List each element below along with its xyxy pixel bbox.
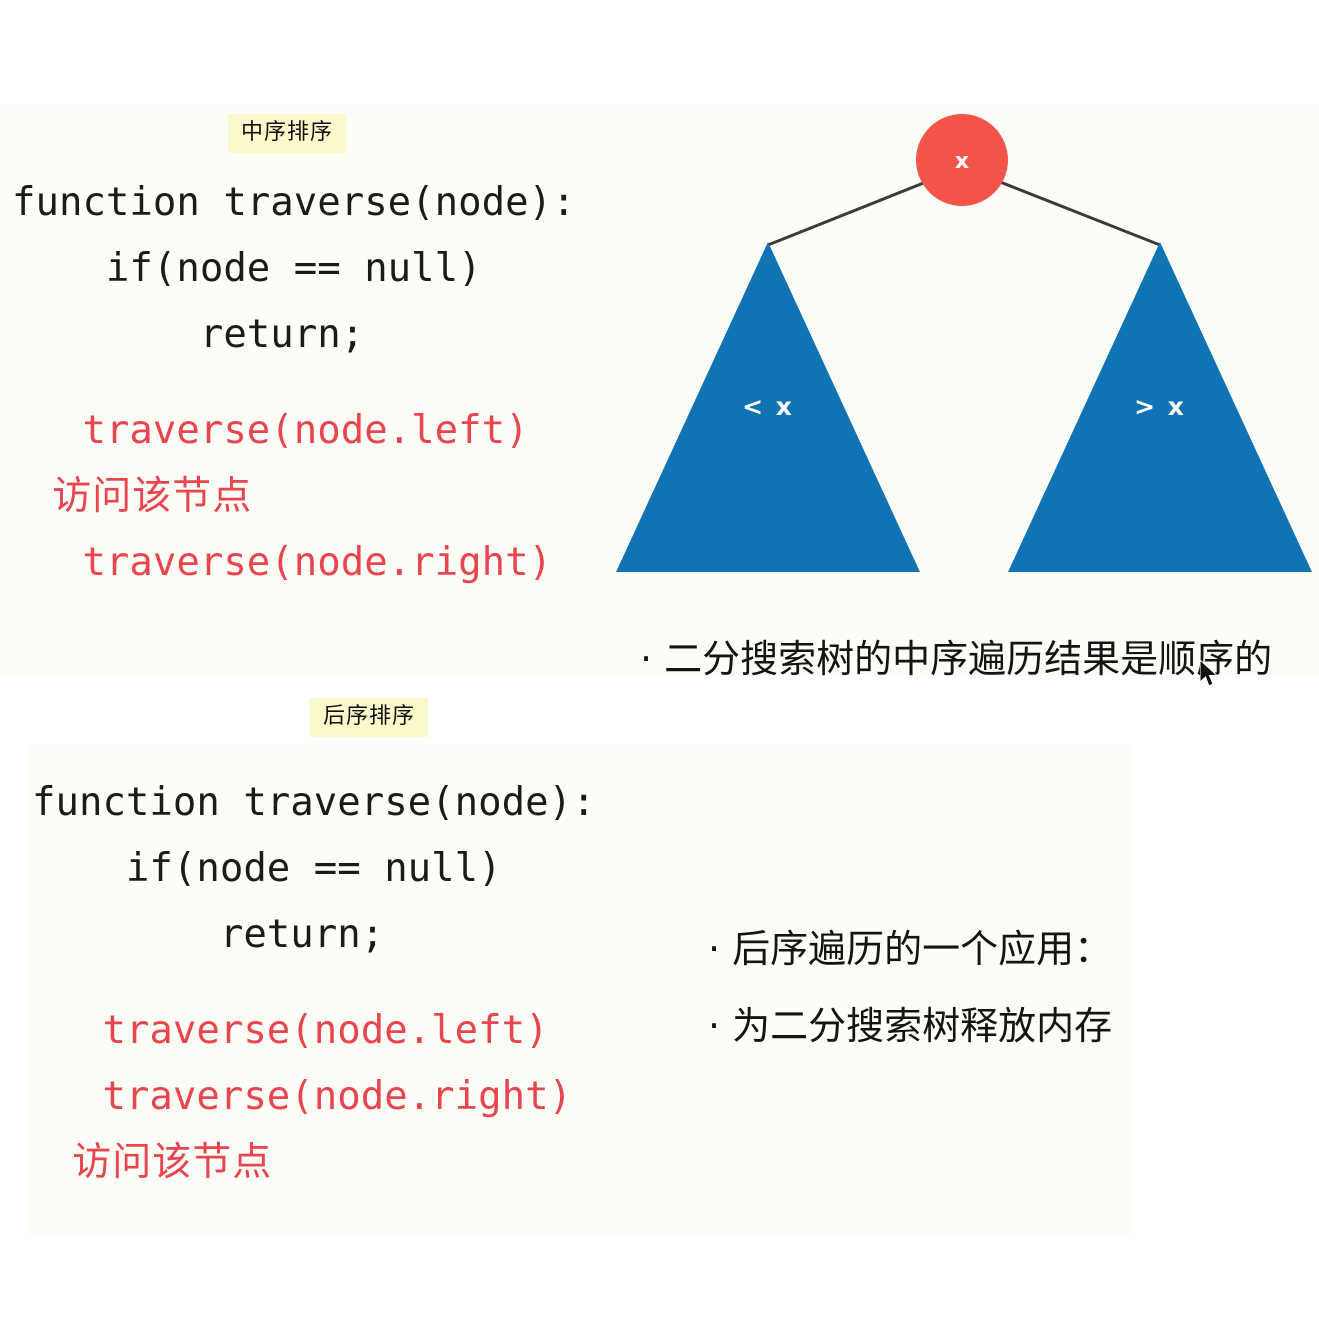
code-line-visit-node: 访问该节点 [32, 1140, 272, 1185]
code-line-visit-node: 访问该节点 [12, 474, 252, 519]
root-node-label: x [955, 149, 969, 174]
postorder-section-title: 后序排序 [310, 698, 428, 737]
inorder-code-block: function traverse(node): if(node == null… [12, 170, 576, 596]
code-line-traverse-right: traverse(node.right) [12, 540, 552, 585]
postorder-code-block: function traverse(node): if(node == null… [32, 770, 596, 1196]
inorder-note: · 二分搜索树的中序遍历结果是顺序的 [640, 628, 1272, 683]
postorder-note-free-memory: · 为二分搜索树释放内存 [708, 995, 1112, 1050]
code-line-traverse-right: traverse(node.right) [32, 1074, 572, 1119]
code-line-return: return; [32, 912, 384, 957]
code-line-if: if(node == null) [12, 246, 482, 291]
code-line-return: return; [12, 312, 364, 357]
edge-root-to-left [768, 178, 936, 245]
code-line-traverse-left: traverse(node.left) [12, 408, 529, 453]
code-line-function: function traverse(node): [12, 180, 576, 225]
code-line-function: function traverse(node): [32, 780, 596, 825]
right-subtree-label: > x [1134, 392, 1186, 421]
edge-root-to-right [990, 178, 1160, 245]
binary-search-tree-diagram: < x > x x [600, 110, 1319, 580]
postorder-note-application: · 后序遍历的一个应用： [708, 918, 1112, 973]
code-blank-line [32, 968, 596, 998]
text-caret-artifact [310, 1183, 317, 1229]
code-blank-line [12, 368, 576, 398]
code-line-traverse-left: traverse(node.left) [32, 1008, 549, 1053]
inorder-section-title: 中序排序 [228, 114, 346, 153]
left-subtree-label: < x [742, 392, 794, 421]
code-line-if: if(node == null) [32, 846, 502, 891]
